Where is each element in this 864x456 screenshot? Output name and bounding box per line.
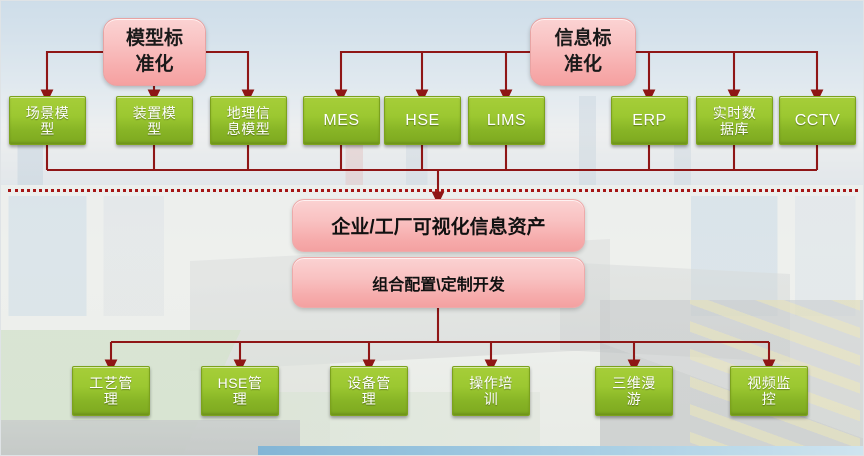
source-label: HSE [405, 113, 439, 129]
source-label: 实时数 据库 [713, 105, 757, 137]
source-label: 场景模 型 [26, 105, 70, 137]
source-mes[interactable]: MES [303, 96, 380, 145]
app-label: 设备管 理 [347, 375, 391, 407]
section-divider [8, 189, 858, 192]
source-lims[interactable]: LIMS [468, 96, 545, 145]
source-realtime-database[interactable]: 实时数 据库 [696, 96, 773, 145]
platform-label: 企业/工厂可视化信息资产 [331, 212, 545, 239]
app-label: 操作培 训 [469, 375, 513, 407]
app-equipment-management[interactable]: 设备管 理 [330, 366, 408, 416]
app-operation-training[interactable]: 操作培 训 [452, 366, 530, 416]
standard-information-standardization[interactable]: 信息标 准化 [530, 18, 636, 86]
source-cctv[interactable]: CCTV [779, 96, 856, 145]
source-label: 地理信 息模型 [227, 105, 271, 137]
app-3d-roaming[interactable]: 三维漫 游 [595, 366, 673, 416]
source-label: 装置模 型 [133, 105, 177, 137]
platform-visual-information-asset[interactable]: 企业/工厂可视化信息资产 [292, 199, 585, 252]
app-process-management[interactable]: 工艺管 理 [72, 366, 150, 416]
diagram-canvas: 模型标 准化 信息标 准化 场景模 型 装置模 型 地理信 息模型 MES HS… [0, 0, 864, 456]
app-label: 视频监 控 [747, 375, 791, 407]
standard-model-standardization[interactable]: 模型标 准化 [103, 18, 206, 86]
source-erp[interactable]: ERP [611, 96, 688, 145]
source-scene-model[interactable]: 场景模 型 [9, 96, 86, 145]
platform-label: 组合配置\定制开发 [372, 271, 504, 295]
platform-composition-customization[interactable]: 组合配置\定制开发 [292, 257, 585, 308]
source-label: LIMS [487, 113, 526, 129]
source-hse[interactable]: HSE [384, 96, 461, 145]
app-hse-management[interactable]: HSE管 理 [201, 366, 279, 416]
standard-label: 模型标 准化 [126, 26, 183, 78]
source-gis-model[interactable]: 地理信 息模型 [210, 96, 287, 145]
source-label: CCTV [795, 113, 841, 129]
app-video-surveillance[interactable]: 视频监 控 [730, 366, 808, 416]
source-label: MES [323, 113, 359, 129]
source-device-model[interactable]: 装置模 型 [116, 96, 193, 145]
app-label: 三维漫 游 [612, 375, 656, 407]
standard-label: 信息标 准化 [554, 26, 611, 78]
source-label: ERP [632, 113, 666, 129]
app-label: HSE管 理 [218, 375, 263, 407]
app-label: 工艺管 理 [89, 375, 133, 407]
